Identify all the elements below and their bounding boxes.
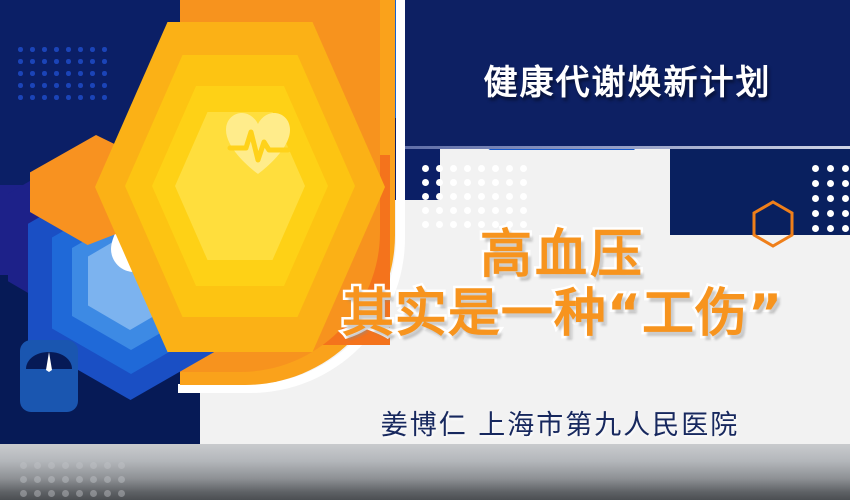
dot xyxy=(90,476,97,483)
dot xyxy=(102,47,107,52)
dot xyxy=(464,179,471,186)
dot xyxy=(520,207,527,214)
dot xyxy=(76,462,83,469)
dot xyxy=(492,165,499,172)
dot xyxy=(506,207,513,214)
dot xyxy=(827,165,834,172)
dot xyxy=(30,95,35,100)
dot xyxy=(118,462,125,469)
headline-line-2: 其实是一种“工伤” xyxy=(290,287,835,342)
dot xyxy=(464,221,471,228)
dot xyxy=(66,71,71,76)
dot xyxy=(478,193,485,200)
dot xyxy=(48,490,55,497)
dot xyxy=(66,47,71,52)
dot xyxy=(506,179,513,186)
dot xyxy=(42,71,47,76)
dot xyxy=(478,165,485,172)
dot xyxy=(42,59,47,64)
dot xyxy=(18,59,23,64)
weight-scale-icon xyxy=(18,338,80,414)
dot xyxy=(42,47,47,52)
dot xyxy=(62,476,69,483)
dot xyxy=(842,180,849,187)
dot xyxy=(450,193,457,200)
dot xyxy=(450,179,457,186)
dot xyxy=(464,193,471,200)
dot xyxy=(42,95,47,100)
dot xyxy=(62,490,69,497)
dot xyxy=(520,179,527,186)
dot xyxy=(66,59,71,64)
headline: 高血压 其实是一种“工伤” xyxy=(290,228,835,342)
dot xyxy=(18,83,23,88)
dot xyxy=(18,47,23,52)
dot xyxy=(464,165,471,172)
dot xyxy=(54,83,59,88)
dot xyxy=(422,207,429,214)
dot xyxy=(422,179,429,186)
dot xyxy=(492,179,499,186)
dot xyxy=(90,59,95,64)
dot xyxy=(20,462,27,469)
dot xyxy=(450,207,457,214)
dot xyxy=(464,207,471,214)
dot xyxy=(76,490,83,497)
dot xyxy=(66,95,71,100)
dot xyxy=(102,95,107,100)
dot xyxy=(422,165,429,172)
dot xyxy=(78,95,83,100)
dot xyxy=(90,462,97,469)
dot xyxy=(422,221,429,228)
dot xyxy=(54,59,59,64)
dot xyxy=(48,476,55,483)
dot xyxy=(34,490,41,497)
dot xyxy=(48,462,55,469)
dot xyxy=(42,83,47,88)
dot xyxy=(827,210,834,217)
dot xyxy=(492,207,499,214)
dot xyxy=(478,179,485,186)
dot xyxy=(20,490,27,497)
dot xyxy=(34,462,41,469)
dot xyxy=(104,490,111,497)
dot xyxy=(118,490,125,497)
dot xyxy=(102,59,107,64)
dot xyxy=(812,165,819,172)
dot xyxy=(76,476,83,483)
dot xyxy=(118,476,125,483)
dot xyxy=(842,225,849,232)
dot xyxy=(102,83,107,88)
dot xyxy=(450,221,457,228)
dot xyxy=(54,47,59,52)
presentation-slide: 健康代谢焕新计划 高血压 其实是一种“工伤” 姜博仁 上海市第九人民医院 xyxy=(0,0,850,500)
dot xyxy=(90,47,95,52)
dot xyxy=(78,59,83,64)
dot xyxy=(492,193,499,200)
dot xyxy=(18,71,23,76)
dot xyxy=(812,210,819,217)
dot xyxy=(812,180,819,187)
dot xyxy=(436,221,443,228)
dot xyxy=(30,47,35,52)
dot xyxy=(78,71,83,76)
dot xyxy=(34,476,41,483)
decor-bottom-gradient-strip xyxy=(0,444,850,500)
dot xyxy=(827,195,834,202)
dot xyxy=(90,490,97,497)
dot xyxy=(62,462,69,469)
dot xyxy=(78,83,83,88)
dot xyxy=(90,83,95,88)
dot xyxy=(30,59,35,64)
dot xyxy=(842,210,849,217)
dot xyxy=(90,71,95,76)
dot xyxy=(78,47,83,52)
dot xyxy=(104,476,111,483)
dot xyxy=(422,193,429,200)
dot xyxy=(842,165,849,172)
dot xyxy=(436,193,443,200)
headline-line-1: 高血压 xyxy=(290,228,835,283)
dot xyxy=(104,462,111,469)
dot xyxy=(506,193,513,200)
dot xyxy=(450,165,457,172)
dot xyxy=(436,165,443,172)
dot xyxy=(54,71,59,76)
dot xyxy=(66,83,71,88)
program-title: 健康代谢焕新计划 xyxy=(405,55,850,104)
dot xyxy=(506,165,513,172)
dot xyxy=(18,95,23,100)
dot xyxy=(812,195,819,202)
dot xyxy=(102,71,107,76)
dot xyxy=(30,83,35,88)
dot xyxy=(20,476,27,483)
dot xyxy=(520,193,527,200)
dot xyxy=(842,195,849,202)
dot xyxy=(54,95,59,100)
dot xyxy=(90,95,95,100)
presenter-line: 姜博仁 上海市第九人民医院 xyxy=(290,403,830,442)
dot xyxy=(436,207,443,214)
heart-pulse-icon xyxy=(222,110,294,176)
title-banner-bottom-edge xyxy=(405,146,850,149)
dot xyxy=(436,179,443,186)
dot xyxy=(478,207,485,214)
dot xyxy=(520,165,527,172)
dot xyxy=(827,180,834,187)
dot xyxy=(30,71,35,76)
